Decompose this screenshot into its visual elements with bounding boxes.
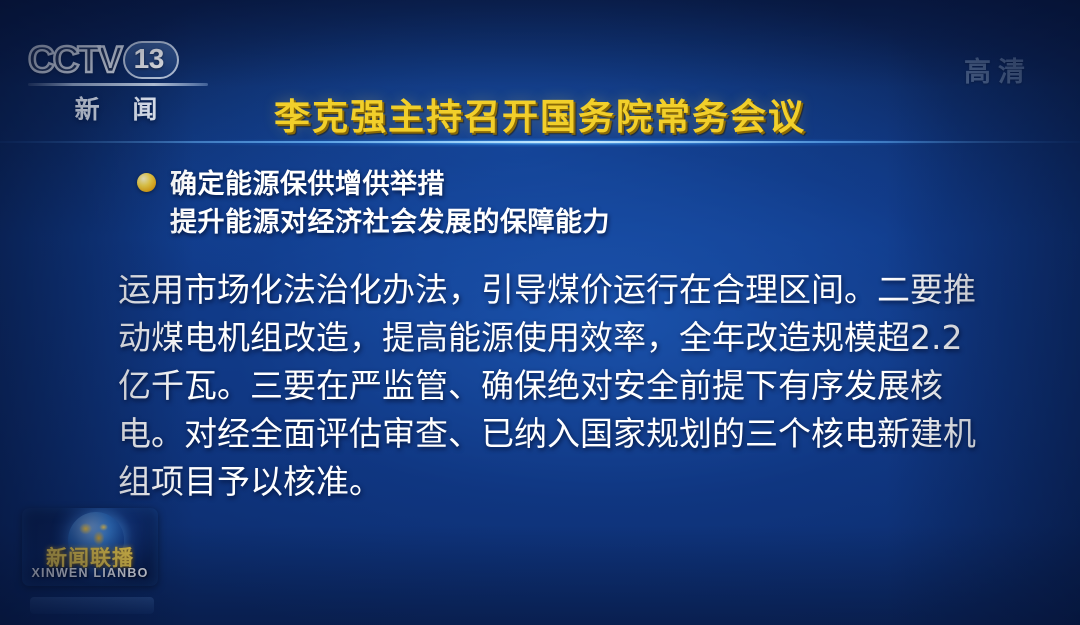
channel-number: 13 — [130, 45, 172, 75]
gold-dot-icon — [137, 173, 156, 192]
channel-number-capsule: 13 — [123, 41, 179, 79]
broadcast-screen: CCTV 13 新 闻 高清 李克强主持召开国务院常务会议 确定能源保供增供举措… — [0, 0, 1080, 625]
bullet-list: 确定能源保供增供举措 提升能源对经济社会发展的保障能力 — [137, 166, 957, 242]
body-line-1: 运用市场化法治化办法，引导煤价运行在合理区间。二要推 — [118, 266, 948, 314]
body-line-3: 亿千瓦。三要在严监管、确保绝对安全前提下有序发展核 — [118, 362, 948, 410]
headline-divider-line — [0, 141, 1080, 143]
program-logo: 新闻联播 XINWEN LIANBO — [22, 508, 158, 586]
bullet-line-2: 提升能源对经济社会发展的保障能力 — [170, 204, 957, 242]
hd-quality-watermark: 高清 — [964, 50, 1032, 89]
list-item: 确定能源保供增供举措 提升能源对经济社会发展的保障能力 — [137, 166, 957, 242]
logo-shelf-bar — [30, 597, 154, 614]
body-line-5: 组项目予以核准。 — [118, 458, 948, 506]
body-line-4: 电。对经全面评估审查、已纳入国家规划的三个核电新建机 — [118, 410, 948, 458]
cctv-logo-row: CCTV 13 — [28, 38, 214, 82]
bullet-line-1: 确定能源保供增供举措 — [170, 166, 957, 204]
body-line-2: 动煤电机组改造，提高能源使用效率，全年改造规模超2.2 — [118, 314, 948, 362]
body-paragraph: 运用市场化法治化办法，引导煤价运行在合理区间。二要推 动煤电机组改造，提高能源使… — [118, 266, 948, 506]
program-name-en: XINWEN LIANBO — [22, 566, 158, 580]
bullet-text-block: 确定能源保供增供举措 提升能源对经济社会发展的保障能力 — [170, 166, 957, 242]
cctv-wordmark: CCTV — [28, 38, 121, 82]
cctv-logo-underline — [28, 83, 208, 86]
page-title: 李克强主持召开国务院常务会议 — [0, 88, 1080, 140]
